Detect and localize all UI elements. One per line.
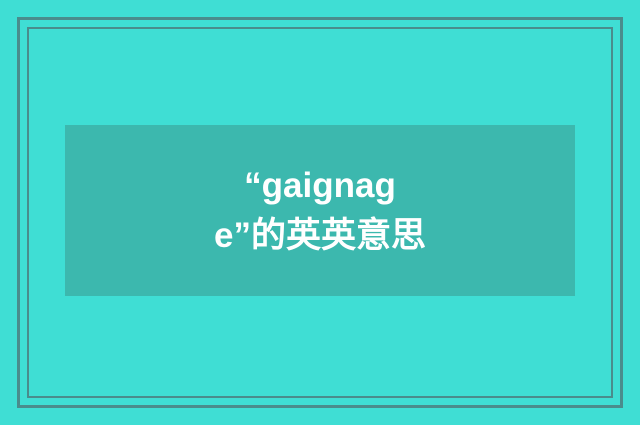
page-canvas: “gaignage”的英英意思 (0, 0, 640, 425)
title-band: “gaignage”的英英意思 (65, 125, 575, 296)
page-title: “gaignage”的英英意思 (214, 161, 426, 260)
